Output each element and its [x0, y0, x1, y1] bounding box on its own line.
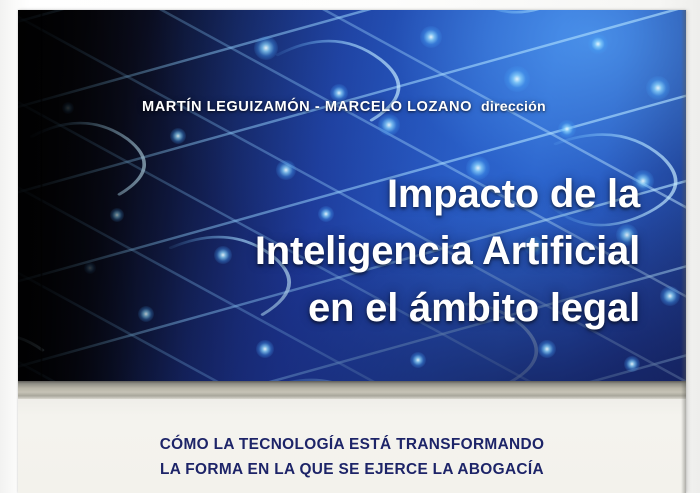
- title-line-2: Inteligencia Artificial: [120, 223, 640, 280]
- book-subtitle: CÓMO LA TECNOLOGÍA ESTÁ TRANSFORMANDO LA…: [18, 432, 686, 482]
- title-line-3: en el ámbito legal: [120, 280, 640, 337]
- authors-names: MARTÍN LEGUIZAMÓN - MARCELO LOZANO: [142, 99, 472, 115]
- title-line-1: Impacto de la: [120, 166, 640, 223]
- book-right-edge-shadow: [681, 10, 686, 493]
- book-cover: MARTÍN LEGUIZAMÓN - MARCELO LOZANOdirecc…: [18, 10, 686, 493]
- subtitle-line-1: CÓMO LA TECNOLOGÍA ESTÁ TRANSFORMANDO: [18, 432, 686, 457]
- cover-text-layer: MARTÍN LEGUIZAMÓN - MARCELO LOZANOdirecc…: [18, 10, 686, 381]
- cover-artwork: MARTÍN LEGUIZAMÓN - MARCELO LOZANOdirecc…: [18, 10, 686, 381]
- scanned-page: MARTÍN LEGUIZAMÓN - MARCELO LOZANOdirecc…: [0, 0, 700, 493]
- subtitle-line-2: LA FORMA EN LA QUE SE EJERCE LA ABOGACÍA: [18, 457, 686, 482]
- cover-lower-panel: CÓMO LA TECNOLOGÍA ESTÁ TRANSFORMANDO LA…: [18, 399, 686, 493]
- cover-divider-band: [18, 381, 686, 399]
- authors-line: MARTÍN LEGUIZAMÓN - MARCELO LOZANOdirecc…: [142, 99, 662, 115]
- book-title: Impacto de la Inteligencia Artificial en…: [120, 166, 640, 337]
- authors-role: dirección: [481, 99, 546, 115]
